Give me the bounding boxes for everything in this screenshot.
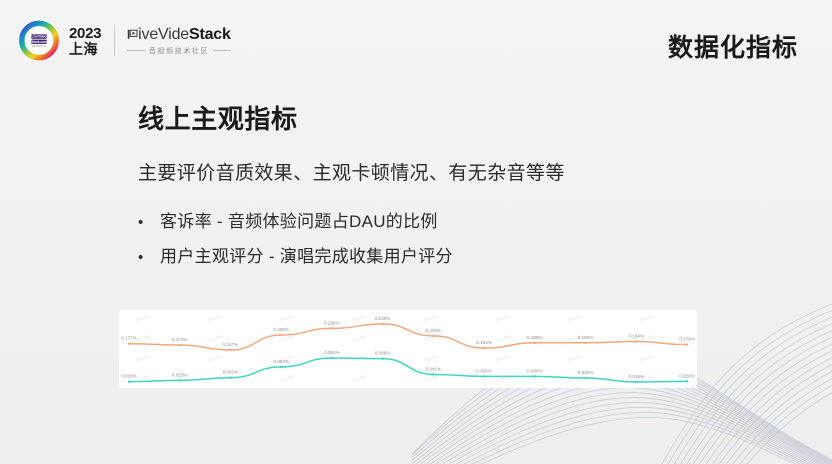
chart-point-label: 0.030%	[578, 370, 594, 375]
chart-point-marker	[584, 377, 586, 379]
svg-text:zhi-data: zhi-data	[496, 313, 512, 323]
svg-text:zhi-data: zhi-data	[424, 353, 440, 363]
event-year: 2023	[69, 26, 101, 42]
chart-point-marker	[534, 342, 536, 344]
svg-text:zhi-data: zhi-data	[424, 333, 440, 343]
svg-text:zhi-data: zhi-data	[136, 353, 152, 363]
list-item: • 客诉率 - 音频体验问题占DAU的比例	[138, 211, 758, 232]
chart-point-marker	[382, 358, 384, 360]
chart-point-label: 0.041%	[426, 366, 442, 371]
chart-point-marker	[686, 344, 688, 346]
chart-point-marker	[382, 323, 384, 325]
svg-text:zhi-data: zhi-data	[568, 313, 584, 323]
svg-text:zhi-data: zhi-data	[568, 353, 584, 363]
svg-text:zhi-data: zhi-data	[496, 333, 512, 343]
svg-text:zhi-data: zhi-data	[136, 333, 152, 343]
chart-point-marker	[584, 342, 586, 344]
chart-point-label: 0.019%	[121, 374, 137, 379]
svg-text:LiveVideo: LiveVideo	[32, 35, 47, 39]
wordmark-bold: Stack	[189, 26, 231, 43]
chart-point-label: 0.035%	[476, 368, 492, 373]
svg-text:Stack.com: Stack.com	[31, 40, 47, 44]
slide-content: 线上主观指标 主要评价音质效果、主观卡顿情况、有无杂音等等 • 客诉率 - 音频…	[138, 104, 758, 281]
chart-point-label: 0.089%	[375, 351, 391, 356]
chart-point-marker	[686, 380, 688, 382]
metrics-line-chart: zhi-datazhi-datazhi-datazhi-datazhi-data…	[119, 310, 697, 388]
svg-text:zhi-data: zhi-data	[352, 373, 368, 383]
chart-point-label: 0.177%	[121, 336, 137, 341]
chart-point-marker	[483, 347, 485, 349]
svg-text:zhi-data: zhi-data	[352, 313, 368, 323]
bullet-list: • 客诉率 - 音频体验问题占DAU的比例 • 用户主观评分 - 演唱完成收集用…	[138, 211, 758, 268]
chart-point-label: 0.035%	[527, 368, 543, 373]
slide-root: LiveVideo Stack.com 音视频技术社区 2023 上海 iveV…	[0, 0, 832, 464]
livevideostack-globe-icon: LiveVideo Stack.com 音视频技术社区	[18, 20, 60, 62]
chart-point-label: 0.205%	[273, 327, 289, 332]
bullet-marker-icon: •	[138, 250, 160, 265]
livevideostack-wordmark: iveVideStack 音视频技术社区	[127, 26, 231, 56]
svg-text:zhi-data: zhi-data	[496, 353, 512, 363]
chart-point-marker	[331, 327, 333, 329]
chart-point-marker	[331, 357, 333, 359]
chart-point-label: 0.031%	[223, 370, 239, 375]
svg-text:zhi-data: zhi-data	[640, 353, 656, 363]
svg-text:zhi-data: zhi-data	[496, 373, 512, 383]
svg-text:zhi-data: zhi-data	[208, 353, 224, 363]
event-city: 上海	[69, 42, 101, 57]
chart-point-label: 0.157%	[223, 342, 239, 347]
svg-text:zhi-data: zhi-data	[280, 373, 296, 383]
bullet-text: 用户主观评分 - 演唱完成收集用户评分	[160, 246, 453, 267]
chart-point-label: 0.023%	[172, 372, 188, 377]
chart-point-label: 0.226%	[324, 320, 340, 325]
brand-lockup: LiveVideo Stack.com 音视频技术社区 2023 上海 iveV…	[18, 20, 231, 62]
chart-point-label: 0.184%	[628, 334, 644, 339]
chart-point-marker	[229, 377, 231, 379]
brand-divider	[114, 26, 115, 56]
list-item: • 用户主观评分 - 演唱完成收集用户评分	[138, 246, 758, 267]
chart-point-marker	[635, 340, 637, 342]
chart-point-label: 0.174%	[679, 337, 695, 342]
chart-point-label: 0.064%	[273, 359, 289, 364]
slide-header: LiveVideo Stack.com 音视频技术社区 2023 上海 iveV…	[0, 0, 832, 78]
chart-point-marker	[280, 366, 282, 368]
svg-text:zhi-data: zhi-data	[640, 313, 656, 323]
wordmark-light: iveVide	[138, 26, 189, 43]
wordmark-subtitle-row: 音视频技术社区	[127, 46, 231, 56]
svg-text:zhi-data: zhi-data	[352, 333, 368, 343]
chart-point-label: 0.091%	[324, 350, 340, 355]
chart-point-marker	[483, 375, 485, 377]
wordmark-subtitle: 音视频技术社区	[149, 46, 209, 56]
chart-point-label: 0.240%	[375, 316, 391, 321]
chart-point-marker	[432, 335, 434, 337]
chart-point-label: 0.020%	[679, 373, 695, 378]
chart-point-marker	[635, 381, 637, 383]
svg-text:zhi-data: zhi-data	[208, 313, 224, 323]
subtitle-rule-left	[127, 50, 145, 51]
chart-point-label: 0.202%	[426, 328, 442, 333]
chart-point-marker	[432, 373, 434, 375]
subtitle-rule-right	[213, 50, 231, 51]
chart-point-marker	[229, 349, 231, 351]
chart-point-marker	[128, 381, 130, 383]
wordmark-text: iveVideStack	[127, 26, 231, 44]
chart-point-marker	[280, 334, 282, 336]
svg-text:zhi-data: zhi-data	[424, 313, 440, 323]
chart-point-marker	[179, 379, 181, 381]
play-flag-icon	[127, 29, 138, 40]
bullet-text: 客诉率 - 音频体验问题占DAU的比例	[160, 211, 438, 232]
chart-point-marker	[179, 344, 181, 346]
svg-text:zhi-data: zhi-data	[208, 333, 224, 343]
page-title: 数据化指标	[668, 28, 798, 64]
event-year-city: 2023 上海	[69, 26, 101, 56]
chart-point-label: 0.180%	[527, 335, 543, 340]
chart-point-marker	[534, 375, 536, 377]
section-title: 线上主观指标	[138, 104, 758, 135]
svg-text:zhi-data: zhi-data	[136, 313, 152, 323]
bullet-marker-icon: •	[138, 215, 160, 230]
section-lead: 主要评价音质效果、主观卡顿情况、有无杂音等等	[138, 162, 758, 187]
svg-text:zhi-data: zhi-data	[280, 313, 296, 323]
chart-point-label: 0.163%	[476, 340, 492, 345]
chart-point-label: 0.018%	[628, 374, 644, 379]
chart-point-label: 0.180%	[578, 335, 594, 340]
chart-point-marker	[128, 343, 130, 345]
chart-point-label: 0.173%	[172, 337, 188, 342]
